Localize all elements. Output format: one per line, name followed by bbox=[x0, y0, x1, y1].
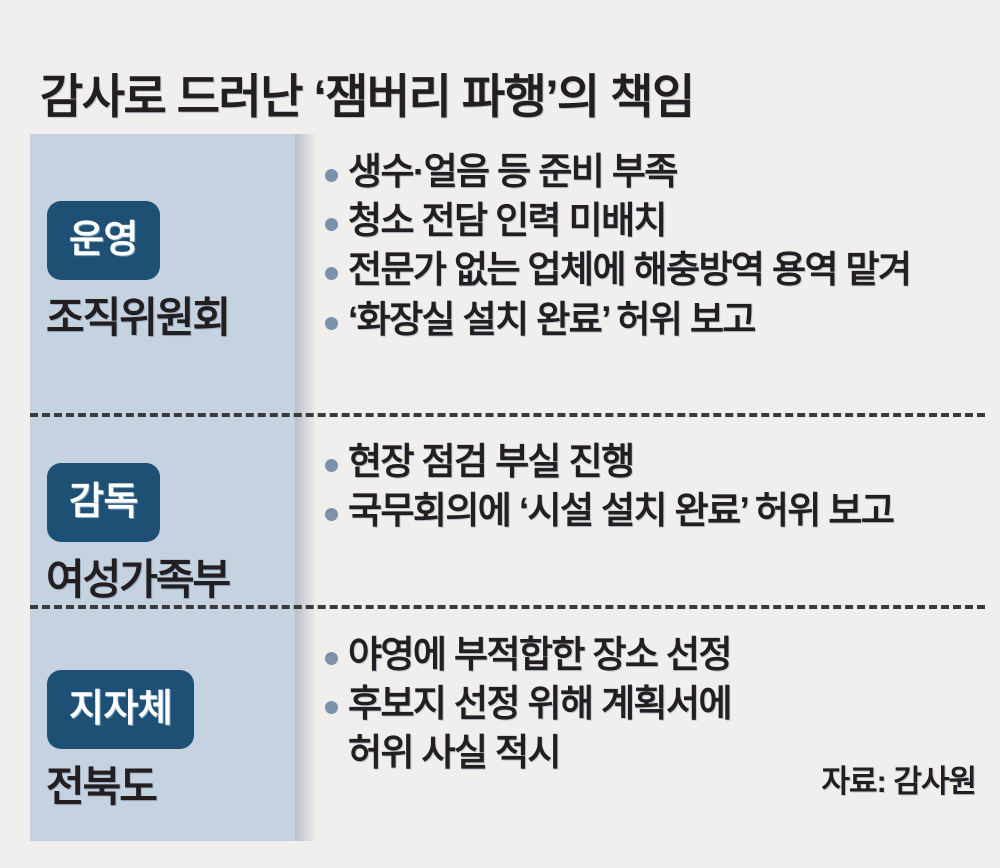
table-row-operation: 운영 조직위원회 생수·얼음 등 준비 부족 청소 전담 인력 미배치 전문가 … bbox=[0, 134, 1000, 413]
row-divider-1 bbox=[30, 413, 985, 417]
organization-name-oversight: 여성가족부 bbox=[46, 546, 229, 607]
responsibility-table: 운영 조직위원회 생수·얼음 등 준비 부족 청소 전담 인력 미배치 전문가 … bbox=[0, 128, 1000, 840]
organization-name-operation: 조직위원회 bbox=[46, 284, 229, 345]
findings-cell-operation: 생수·얼음 등 준비 부족 청소 전담 인력 미배치 전문가 없는 업체에 해충… bbox=[322, 134, 982, 413]
list-item: 국무회의에 ‘시설 설치 완료’ 허위 보고 bbox=[322, 486, 982, 535]
findings-list-operation: 생수·얼음 등 준비 부족 청소 전담 인력 미배치 전문가 없는 업체에 해충… bbox=[322, 134, 982, 344]
table-row-oversight: 감독 여성가족부 현장 점검 부실 진행 국무회의에 ‘시설 설치 완료’ 허위… bbox=[0, 419, 1000, 611]
list-item: 현장 점검 부실 진행 bbox=[322, 437, 982, 486]
row-divider-2 bbox=[30, 605, 985, 609]
category-badge-operation: 운영 bbox=[47, 201, 160, 280]
category-cell-local-government: 지자체 전북도 bbox=[30, 617, 295, 841]
category-badge-local-government: 지자체 bbox=[47, 670, 194, 749]
category-badge-oversight: 감독 bbox=[47, 463, 160, 542]
list-item: 전문가 없는 업체에 해충방역 용역 맡겨 bbox=[322, 245, 982, 294]
source-note: 자료: 감사원 bbox=[821, 756, 976, 801]
findings-cell-oversight: 현장 점검 부실 진행 국무회의에 ‘시설 설치 완료’ 허위 보고 bbox=[322, 419, 982, 611]
findings-list-local-government: 야영에 부적합한 장소 선정 후보지 선정 위해 계획서에 허위 사실 적시 bbox=[322, 617, 982, 778]
category-cell-operation: 운영 조직위원회 bbox=[30, 134, 295, 413]
list-item: ‘화장실 설치 완료’ 허위 보고 bbox=[322, 295, 982, 344]
page-title: 감사로 드러난 ‘잼버리 파행’의 책임 bbox=[40, 69, 694, 125]
category-cell-oversight: 감독 여성가족부 bbox=[30, 419, 295, 611]
organization-name-local-government: 전북도 bbox=[46, 753, 156, 814]
findings-list-oversight: 현장 점검 부실 진행 국무회의에 ‘시설 설치 완료’ 허위 보고 bbox=[322, 419, 982, 535]
findings-cell-local-government: 야영에 부적합한 장소 선정 후보지 선정 위해 계획서에 허위 사실 적시 bbox=[322, 617, 982, 841]
list-item: 야영에 부적합한 장소 선정 bbox=[322, 630, 982, 679]
list-item: 청소 전담 인력 미배치 bbox=[322, 196, 982, 245]
list-item: 생수·얼음 등 준비 부족 bbox=[322, 147, 982, 196]
table-row-local-government: 지자체 전북도 야영에 부적합한 장소 선정 후보지 선정 위해 계획서에 허위… bbox=[0, 617, 1000, 841]
